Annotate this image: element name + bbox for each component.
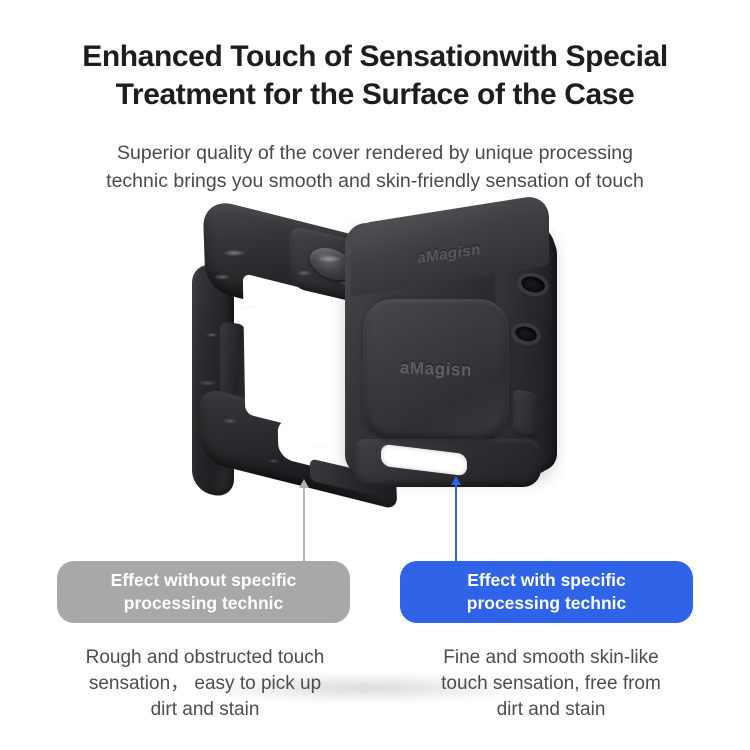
caption-with-processing: Fine and smooth skin-like touch sensatio…: [396, 645, 706, 724]
subheadline-line-1: Superior quality of the cover rendered b…: [28, 140, 722, 168]
badge-without-processing: Effect without specific processing techn…: [57, 561, 350, 623]
badge-left-line-2: processing technic: [111, 592, 297, 615]
frame-window-cutout: [243, 273, 353, 441]
badge-right-line-1: Effect with specific: [467, 569, 627, 592]
arrow-up-icon: [299, 479, 309, 488]
badge-right-line-2: processing technic: [467, 592, 627, 615]
caption-right-line-3: dirt and stain: [396, 697, 706, 723]
page-headline: Enhanced Touch of Sensationwith Special …: [0, 38, 750, 115]
case-side-button: [513, 389, 537, 440]
brand-logo-lens: aMagisn: [361, 296, 512, 441]
treated-smooth-case: aMagisn aMagisn: [345, 223, 570, 513]
product-photo-camera-case: aMagisn aMagisn: [170, 205, 570, 535]
headline-line-2: Treatment for the Surface of the Case: [0, 76, 750, 114]
caption-without-processing: Rough and obstructed touch sensation， ea…: [50, 645, 360, 724]
caption-left-line-1: Rough and obstructed touch: [50, 645, 360, 671]
caption-left-line-3: dirt and stain: [50, 697, 360, 723]
badge-left-line-1: Effect without specific: [111, 569, 297, 592]
caption-right-line-1: Fine and smooth skin-like: [396, 645, 706, 671]
caption-left-line-2: sensation， easy to pick up: [50, 671, 360, 697]
headline-line-1: Enhanced Touch of Sensationwith Special: [0, 38, 750, 76]
leader-line-shaft: [303, 487, 305, 563]
page-subheadline: Superior quality of the cover rendered b…: [28, 140, 722, 195]
product-image-stage: aMagisn aMagisn: [0, 200, 750, 550]
leader-line-shaft: [455, 484, 457, 563]
caption-right-line-2: touch sensation, free from: [396, 671, 706, 697]
subheadline-line-2: technic brings you smooth and skin-frien…: [28, 168, 722, 196]
badge-with-processing: Effect with specific processing technic: [400, 561, 693, 623]
arrow-up-icon: [451, 476, 461, 485]
